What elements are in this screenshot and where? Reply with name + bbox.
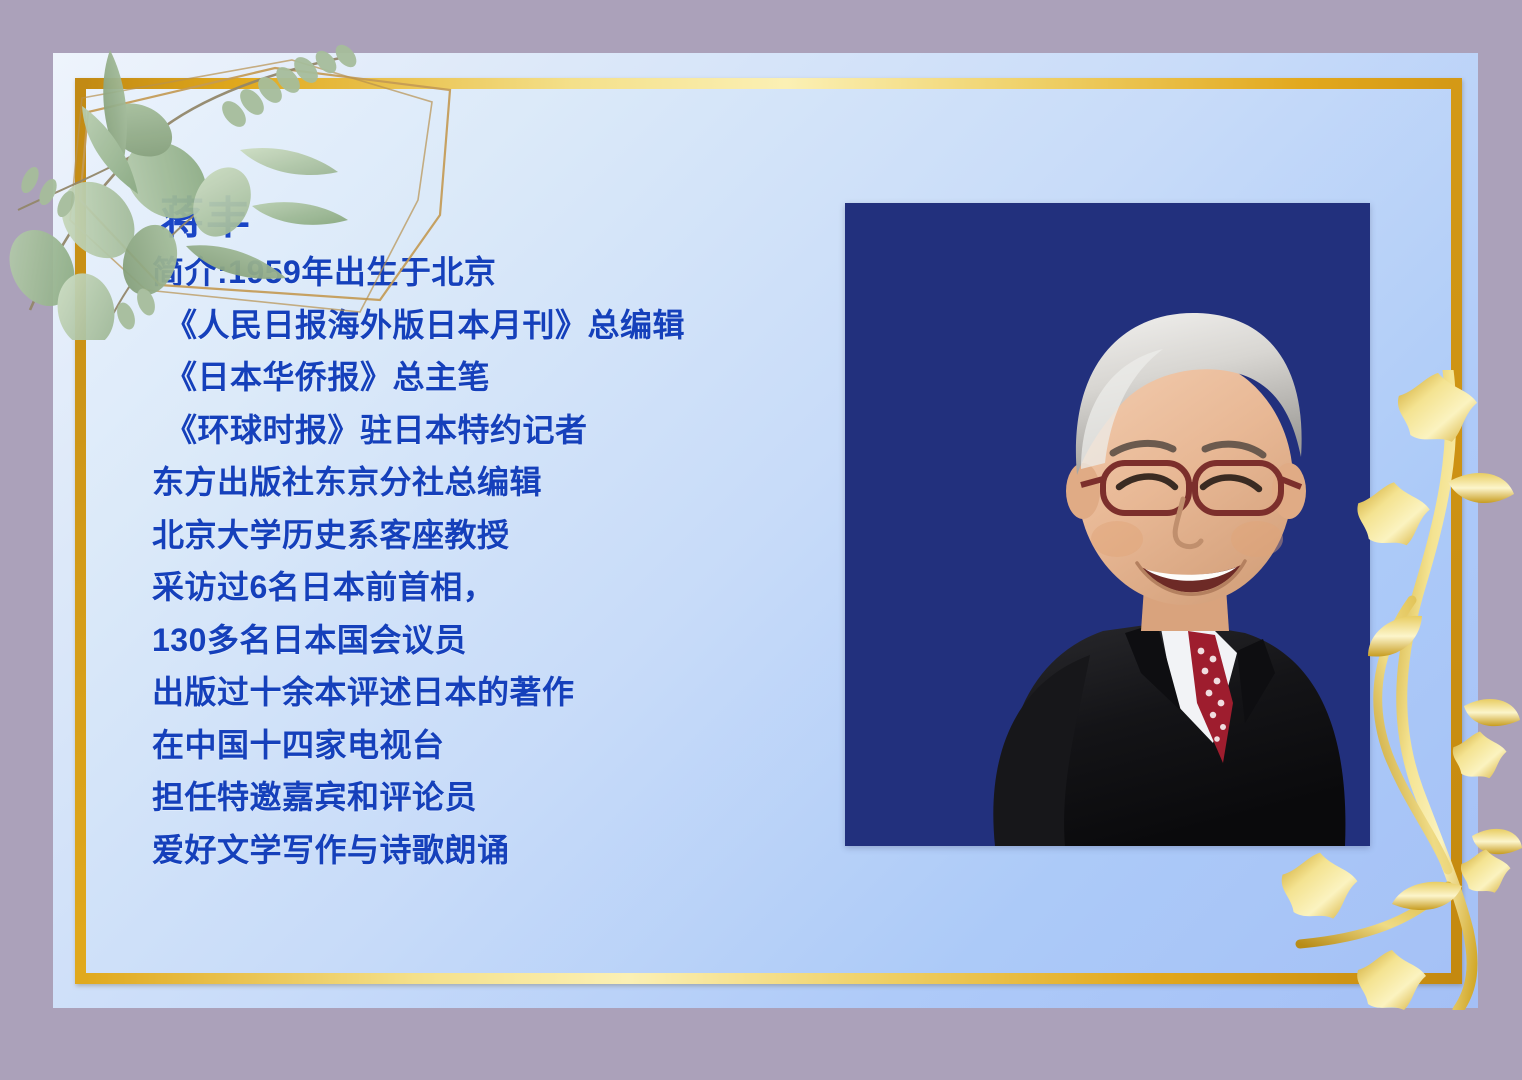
bio-line-6: 采访过6名日本前首相， <box>152 571 852 603</box>
profile-text-column: 蒋丰 简介:1959年出生于北京 《人民日报海外版日本月刊》总编辑 《日本华侨报… <box>152 196 852 886</box>
bio-line-5: 北京大学历史系客座教授 <box>152 519 852 551</box>
portrait-photo <box>845 203 1370 846</box>
bio-line-1: 《人民日报海外版日本月刊》总编辑 <box>152 309 852 341</box>
bio-line-4: 东方出版社东京分社总编辑 <box>152 466 852 498</box>
bio-line-3: 《环球时报》驻日本特约记者 <box>152 414 852 446</box>
bio-line-0: 简介:1959年出生于北京 <box>152 256 852 288</box>
bio-line-7: 130多名日本国会议员 <box>152 624 852 656</box>
bio-line-11: 爱好文学写作与诗歌朗诵 <box>152 834 852 866</box>
portrait-illustration <box>845 203 1370 846</box>
page-title: 蒋丰 <box>160 196 852 242</box>
bio-line-9: 在中国十四家电视台 <box>152 729 852 761</box>
bio-line-2: 《日本华侨报》总主笔 <box>152 361 852 393</box>
slide-canvas: 蒋丰 简介:1959年出生于北京 《人民日报海外版日本月刊》总编辑 《日本华侨报… <box>0 0 1522 1080</box>
bio-line-8: 出版过十余本评述日本的著作 <box>152 676 852 708</box>
bio-line-10: 担任特邀嘉宾和评论员 <box>152 781 852 813</box>
